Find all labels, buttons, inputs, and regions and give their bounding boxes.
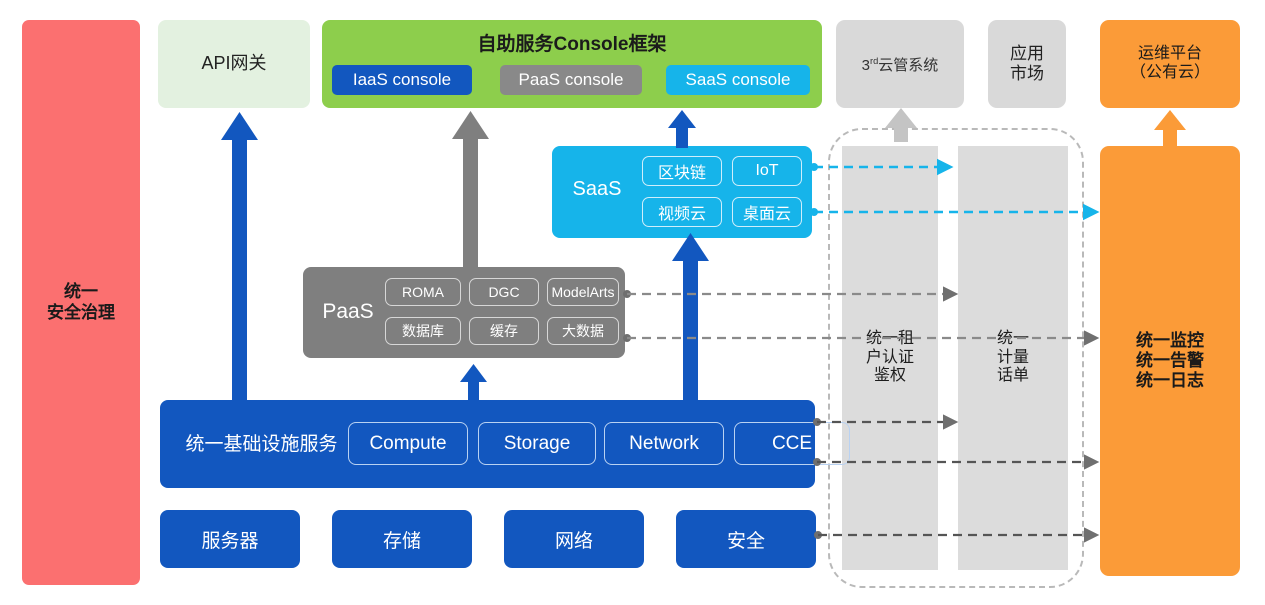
arrow-infra-to-api-gateway (221, 112, 258, 403)
saas-layer-box: SaaS 区块链 IoT 视频云 桌面云 (552, 146, 812, 238)
security-governance-panel: 统一 安全治理 (22, 20, 140, 585)
unified-billing-column: 统一 计量 话单 (958, 146, 1068, 570)
paas-chip-database[interactable]: 数据库 (385, 317, 461, 345)
saas-chip-iot[interactable]: IoT (732, 156, 802, 186)
resource-box-server[interactable]: 服务器 (160, 510, 300, 568)
paas-chip-modelarts[interactable]: ModelArts (547, 278, 619, 306)
ops-platform-box: 运维平台 （公有云） (1100, 20, 1240, 108)
arrow-infra-to-paas (460, 364, 487, 403)
paas-chip-cache[interactable]: 缓存 (469, 317, 539, 345)
saas-chip-desktop-cloud[interactable]: 桌面云 (732, 197, 802, 227)
paas-layer-title: PaaS (311, 300, 385, 324)
saas-layer-title: SaaS (564, 178, 630, 201)
arrow-infra-to-saas (672, 233, 709, 404)
arrow-saas-to-saas-console (668, 110, 696, 148)
saas-chip-video-cloud[interactable]: 视频云 (642, 197, 722, 227)
unified-tenant-auth-column: 统一租 户认证 鉴权 (842, 146, 938, 570)
iaas-console-chip[interactable]: IaaS console (332, 65, 472, 95)
console-framework-box: 自助服务Console框架 IaaS console PaaS console … (322, 20, 822, 108)
paas-console-chip[interactable]: PaaS console (500, 65, 642, 95)
app-market-box: 应用 市场 (988, 20, 1066, 108)
arrow-paas-to-console (452, 111, 489, 274)
saas-chip-blockchain[interactable]: 区块链 (642, 156, 722, 186)
unified-monitoring-column: 统一监控 统一告警 统一日志 (1100, 146, 1240, 576)
resource-box-network[interactable]: 网络 (504, 510, 644, 568)
paas-chip-bigdata[interactable]: 大数据 (547, 317, 619, 345)
resource-box-storage[interactable]: 存储 (332, 510, 472, 568)
third-cloud-prefix: 3 (862, 57, 870, 74)
paas-chip-dgc[interactable]: DGC (469, 278, 539, 306)
api-gateway-box: API网关 (158, 20, 310, 108)
infra-chip-compute[interactable]: Compute (348, 422, 468, 465)
resource-box-security[interactable]: 安全 (676, 510, 816, 568)
paas-chip-roma[interactable]: ROMA (385, 278, 461, 306)
saas-console-chip[interactable]: SaaS console (666, 65, 810, 95)
paas-layer-box: PaaS ROMA DGC ModelArts 数据库 缓存 大数据 (303, 267, 625, 358)
architecture-diagram: 统一 安全治理 API网关 自助服务Console框架 IaaS console… (0, 0, 1265, 605)
infrastructure-layer-box: 统一基础设施服务 Compute Storage Network CCE (160, 400, 815, 488)
infra-chip-network[interactable]: Network (604, 422, 724, 465)
third-party-cloud-management-box: 3rd云管系统 (836, 20, 964, 108)
infrastructure-layer-title: 统一基础设施服务 (174, 429, 349, 456)
third-cloud-suffix: 云管系统 (878, 57, 938, 74)
infra-chip-cce[interactable]: CCE (734, 422, 850, 465)
console-framework-title: 自助服务Console框架 (322, 29, 822, 56)
infra-chip-storage[interactable]: Storage (478, 422, 596, 465)
arrow-to-ops-platform (1154, 110, 1186, 146)
